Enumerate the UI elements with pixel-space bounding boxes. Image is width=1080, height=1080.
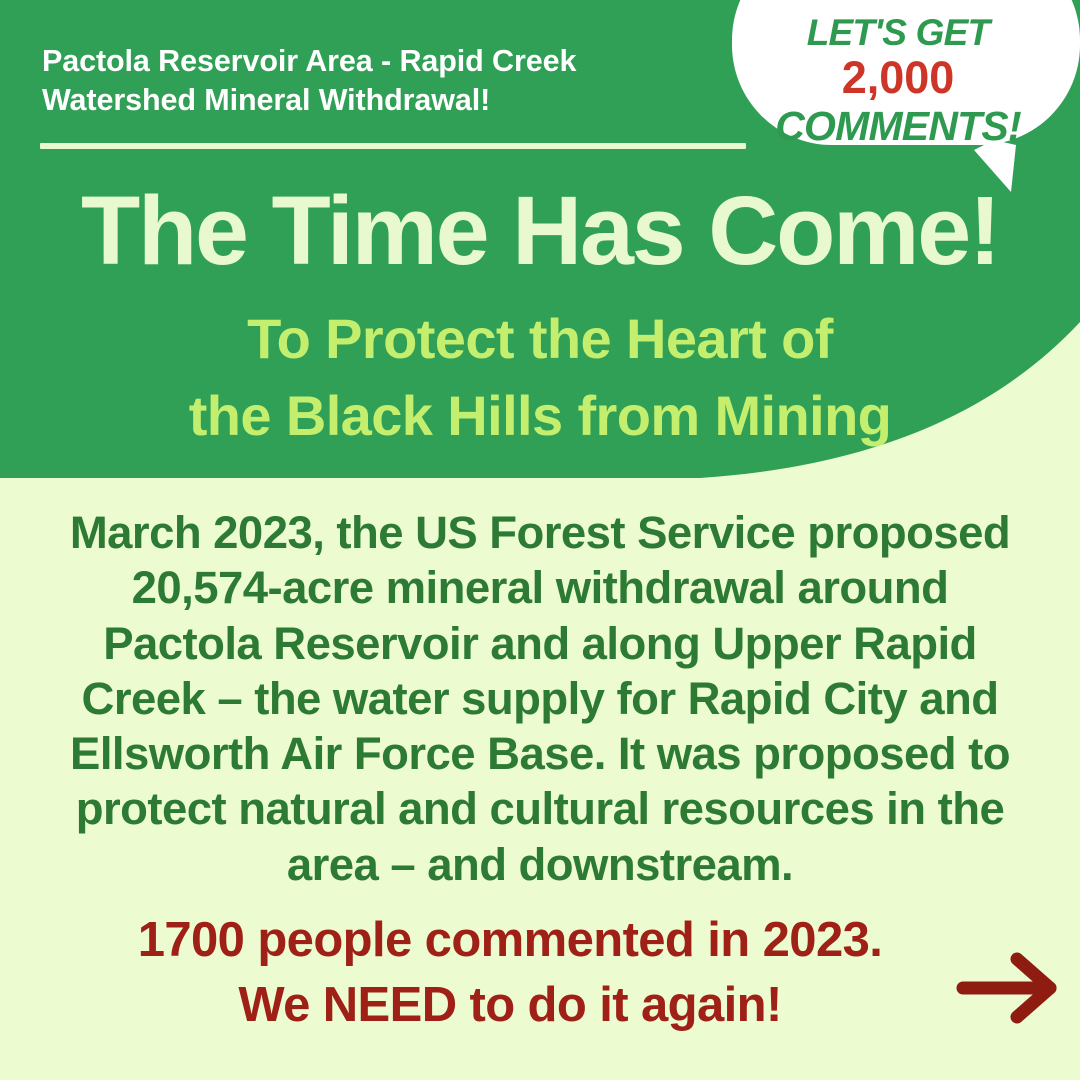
subtitle-line-1: To Protect the Heart of	[0, 300, 1080, 377]
bubble-line-3: COMMENTS!	[716, 104, 1080, 150]
body-line: protect natural and cultural resources i…	[60, 781, 1020, 836]
subtitle-line-2: the Black Hills from Mining	[0, 377, 1080, 454]
call-to-action-text: 1700 people commented in 2023. We NEED t…	[60, 908, 960, 1037]
body-line: Pactola Reservoir and along Upper Rapid	[60, 616, 1020, 671]
arrow-right-icon[interactable]	[955, 952, 1065, 1024]
cta-line-1: 1700 people commented in 2023.	[60, 908, 960, 973]
body-paragraph: March 2023, the US Forest Service propos…	[60, 505, 1020, 892]
speech-bubble-callout: LET'S GET 2,000 COMMENTS!	[716, 0, 1080, 196]
body-line: 20,574-acre mineral withdrawal around	[60, 560, 1020, 615]
kicker-line-2: Watershed Mineral Withdrawal!	[42, 83, 490, 117]
kicker-line-1: Pactola Reservoir Area - Rapid Creek	[42, 44, 576, 78]
body-line: Creek – the water supply for Rapid City …	[60, 671, 1020, 726]
body-line: Ellsworth Air Force Base. It was propose…	[60, 726, 1020, 781]
cta-line-2: We NEED to do it again!	[60, 973, 960, 1038]
poster-canvas: Pactola Reservoir Area - Rapid Creek Wat…	[0, 0, 1080, 1080]
kicker-text: Pactola Reservoir Area - Rapid Creek Wat…	[42, 42, 702, 120]
speech-bubble-text: LET'S GET 2,000 COMMENTS!	[716, 12, 1080, 150]
bubble-goal-number: 2,000	[716, 53, 1080, 103]
body-line: March 2023, the US Forest Service propos…	[60, 505, 1020, 560]
page-subtitle: To Protect the Heart of the Black Hills …	[0, 300, 1080, 455]
header-divider-rule	[40, 143, 746, 149]
bubble-line-1: LET'S GET	[716, 12, 1080, 53]
body-line: area – and downstream.	[60, 837, 1020, 892]
